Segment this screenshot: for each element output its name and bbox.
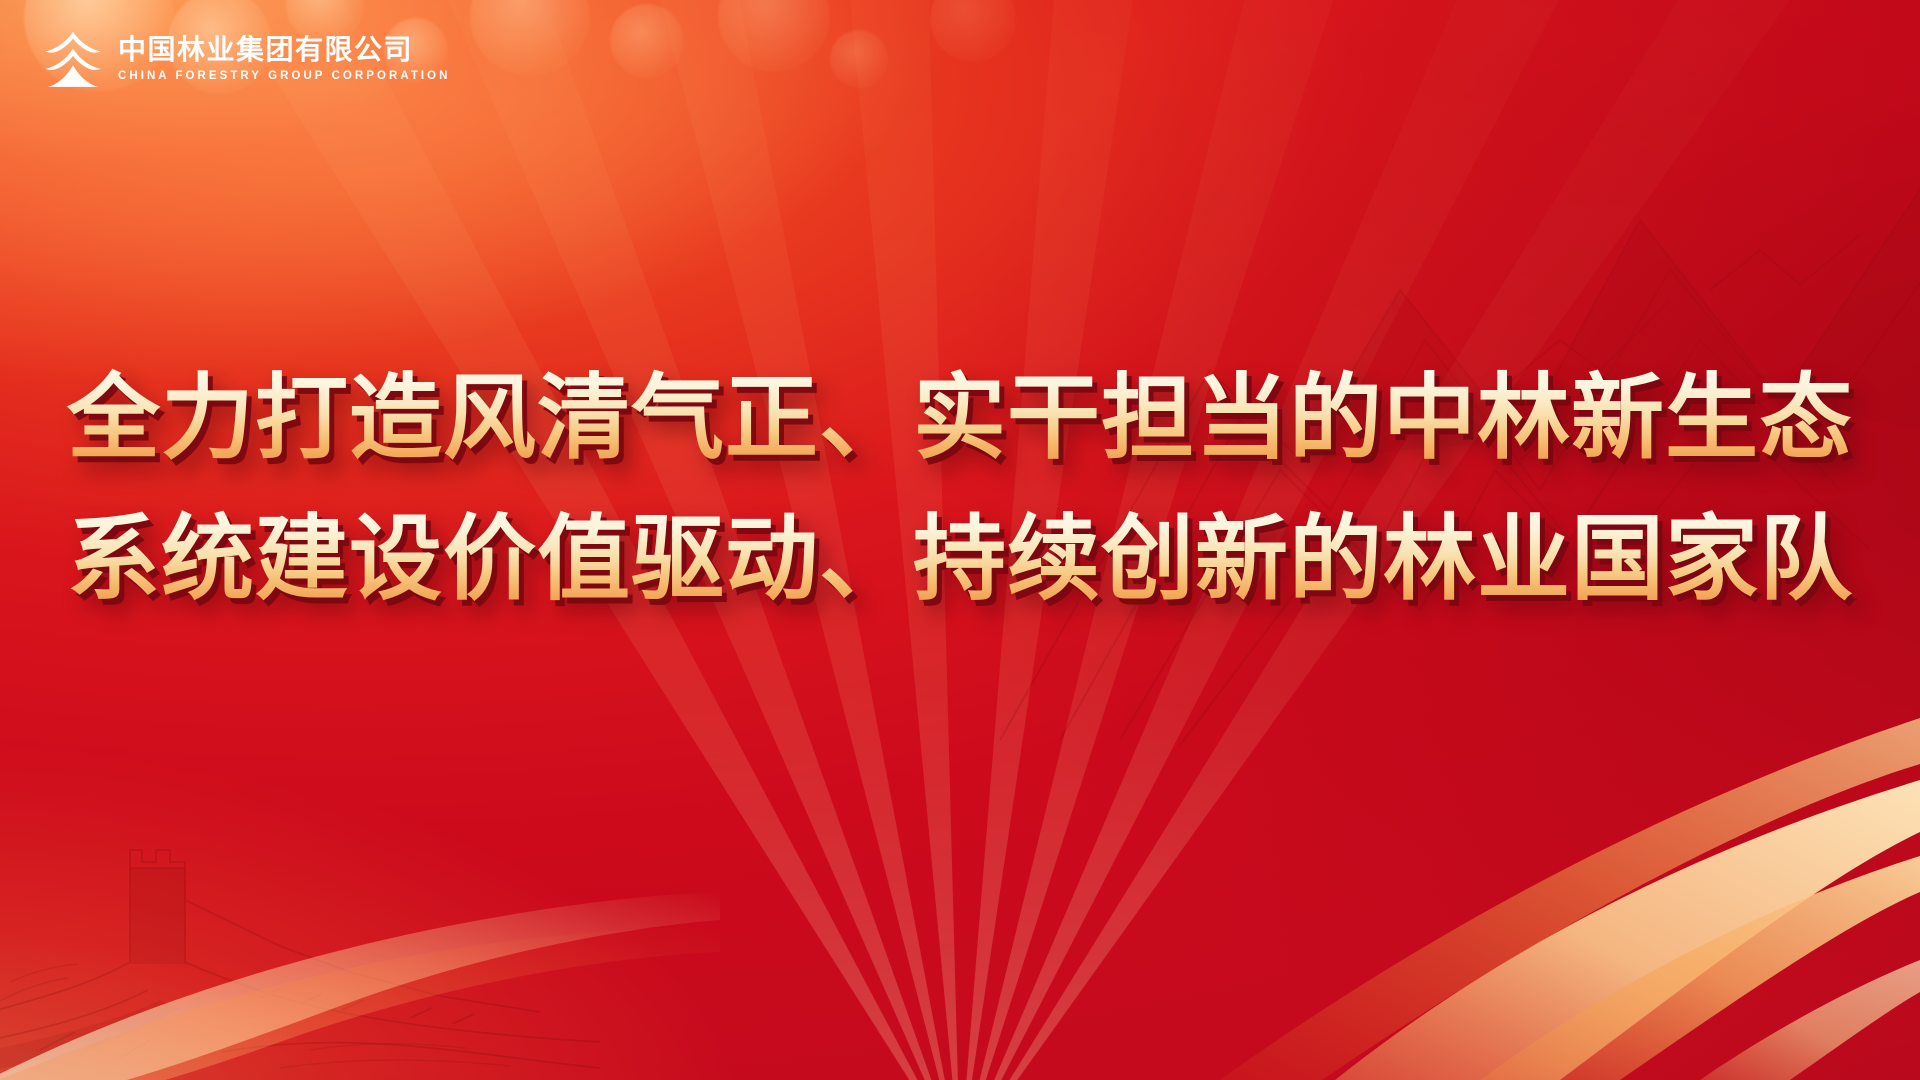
brand-logo[interactable]: 中国林业集团有限公司 CHINA FORESTRY GROUP CORPORAT… (42, 28, 451, 90)
brand-logo-text: 中国林业集团有限公司 CHINA FORESTRY GROUP CORPORAT… (118, 34, 451, 84)
headline-line-1: 全力打造风清气正、实干担当的中林新生态 (44, 352, 1876, 485)
headline-line-2: 系统建设价值驱动、持续创新的林业国家队 (44, 493, 1876, 626)
company-name-cn: 中国林业集团有限公司 (118, 34, 451, 65)
headline-block: 全力打造风清气正、实干担当的中林新生态 系统建设价值驱动、持续创新的林业国家队 (0, 352, 1920, 626)
gold-ribbon-bottom-left (0, 770, 720, 1080)
china-forestry-group-pagoda-mark-icon (42, 28, 104, 90)
bokeh-circle (830, 30, 888, 88)
company-name-en: CHINA FORESTRY GROUP CORPORATION (118, 70, 451, 84)
banner-canvas: 中国林业集团有限公司 CHINA FORESTRY GROUP CORPORAT… (0, 0, 1920, 1080)
gold-ribbon-bottom-right (920, 660, 1920, 1080)
bokeh-circle (610, 4, 684, 78)
